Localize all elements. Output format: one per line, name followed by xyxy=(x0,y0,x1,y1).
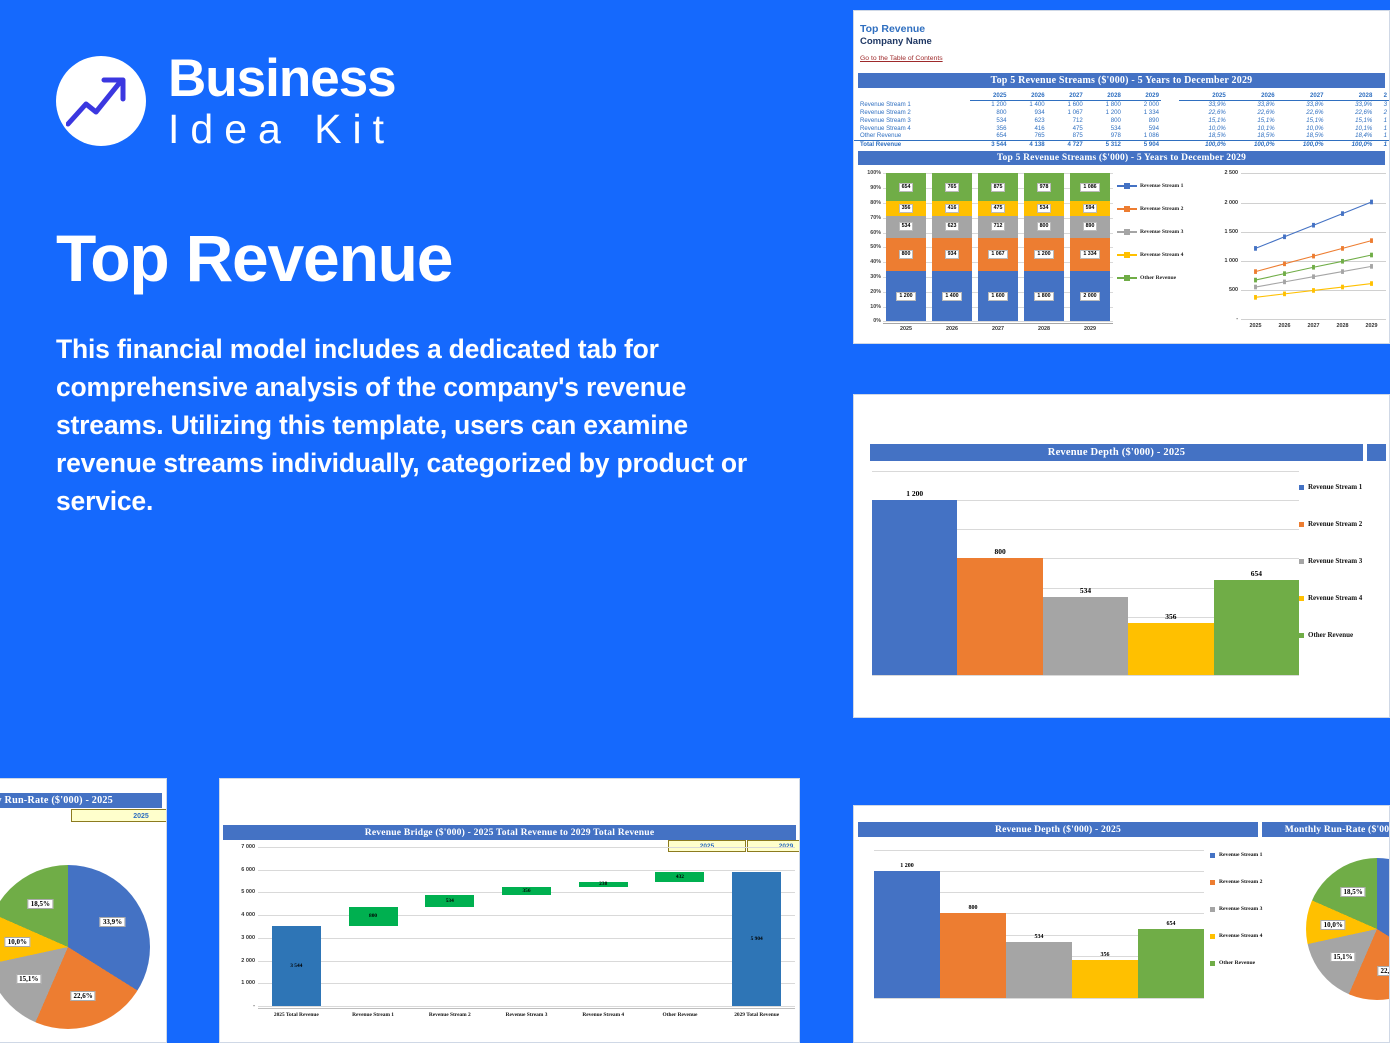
stacked-segment: 594 xyxy=(1070,201,1109,216)
row-value: 5 904 xyxy=(1123,140,1161,148)
segment-value: 875 xyxy=(991,183,1006,192)
row-pct: 15,1% xyxy=(1277,116,1326,124)
bar-value: 654 xyxy=(1214,569,1299,578)
legend-item: Revenue Stream 4 xyxy=(1117,252,1211,258)
waterfall-bar: 5 904 xyxy=(732,872,781,1006)
legend-item: Other Revenue xyxy=(1210,960,1284,966)
stacked-segment: 1 800 xyxy=(1024,271,1063,321)
table-row: Revenue Stream 353462371280089015,1%15,1… xyxy=(854,116,1389,124)
bar xyxy=(940,913,1006,998)
y-tick: 70% xyxy=(870,215,881,221)
segment-value: 1 800 xyxy=(1034,292,1053,301)
stacked-x-axis: 20252026202720282029 xyxy=(883,323,1113,339)
row-pct: 100,0% xyxy=(1326,140,1375,148)
legend-item: Revenue Stream 4 xyxy=(1299,594,1385,602)
bar xyxy=(872,500,957,675)
row-value: 594 xyxy=(1123,124,1161,132)
row-pct: 33,9% xyxy=(1179,100,1228,108)
y-tick: 60% xyxy=(870,230,881,236)
x-tick: 2028 xyxy=(1024,326,1063,339)
stacked-segment: 875 xyxy=(978,173,1017,200)
segment-value: 2 000 xyxy=(1080,292,1099,301)
bar-value: 356 xyxy=(1072,952,1138,958)
legend-marker xyxy=(1210,880,1215,885)
legend-label: Revenue Stream 1 xyxy=(1140,183,1183,189)
run-rate-title-bottom: Monthly Run-Rate ($'000) - 2025 xyxy=(1262,822,1390,837)
y-tick: 500 xyxy=(1229,287,1238,293)
bar xyxy=(874,871,940,998)
waterfall-bar: 3 544 xyxy=(272,926,321,1006)
x-tick: Revenue Stream 3 xyxy=(488,1012,565,1026)
legend-label: Revenue Stream 4 xyxy=(1308,594,1362,602)
legend-label: Revenue Stream 1 xyxy=(1308,483,1362,491)
stacked-column: 6543565348001 200 xyxy=(886,173,925,321)
bar-value: 1 200 xyxy=(872,489,957,498)
promo-description: This financial model includes a dedicate… xyxy=(56,331,766,520)
row-value: 654 xyxy=(970,132,1008,140)
legend-marker xyxy=(1117,185,1137,187)
stacked-segment: 534 xyxy=(886,216,925,238)
bar-column: 356 xyxy=(1072,850,1138,998)
x-tick: Revenue Stream 2 xyxy=(411,1012,488,1026)
row-pct: 10,0% xyxy=(1277,124,1326,132)
year-selector-left[interactable]: 2025 xyxy=(71,809,167,822)
y-tick: 90% xyxy=(870,185,881,191)
pie-slice-label: 18,5% xyxy=(1340,887,1365,897)
bar-column: 1 200 xyxy=(872,471,957,675)
legend-marker xyxy=(1117,254,1137,256)
stacked-segment: 2 000 xyxy=(1070,271,1109,321)
promo-block: Business Idea Kit Top Revenue This finan… xyxy=(56,52,816,521)
legend-label: Revenue Stream 3 xyxy=(1219,906,1262,912)
waterfall-column: 5 904 xyxy=(718,847,795,1006)
revenue-depth-title-bottom: Revenue Depth ($'000) - 2025 xyxy=(858,822,1258,837)
pie-slice-label: 33,9% xyxy=(100,917,125,927)
revenue-depth-title: Revenue Depth ($'000) - 2025 xyxy=(870,444,1363,461)
y-tick: 1 000 xyxy=(1225,258,1239,264)
row-pct: 15,1% xyxy=(1228,116,1277,124)
bar-column: 356 xyxy=(1128,471,1213,675)
brand-name-primary: Business xyxy=(168,52,396,105)
brand-logo: Business Idea Kit xyxy=(56,52,816,150)
x-tick: 2029 xyxy=(1070,326,1109,339)
row-value: 1 600 xyxy=(1047,100,1085,108)
stacked-segment: 800 xyxy=(1024,216,1063,238)
bar-column: 800 xyxy=(957,471,1042,675)
waterfall-value: 5 904 xyxy=(732,936,781,942)
segment-value: 654 xyxy=(899,183,914,192)
monthly-run-rate-panel-left: Monthly Run-Rate ($'000) - 2025 2025 33,… xyxy=(0,778,167,1043)
stacked-segment: 1 600 xyxy=(978,271,1017,321)
waterfall-value: 3 544 xyxy=(272,963,321,969)
table-col-header: 2025 xyxy=(970,92,1008,100)
run-rate-pie-left: 33,9%22,6%15,1%10,0%18,5% xyxy=(0,865,150,1029)
legend-marker xyxy=(1299,559,1304,564)
row-value: 712 xyxy=(1047,116,1085,124)
pie-slice-label: 18,5% xyxy=(28,899,53,909)
row-value: 2 000 xyxy=(1123,100,1161,108)
row-value: 765 xyxy=(1009,132,1047,140)
segment-value: 1 400 xyxy=(942,292,961,301)
segment-value: 623 xyxy=(945,222,960,231)
bar-column: 800 xyxy=(940,850,1006,998)
y-tick: 30% xyxy=(870,274,881,280)
stacked-segment: 1 200 xyxy=(886,271,925,321)
stacked-segment: 1 086 xyxy=(1070,173,1109,200)
row-pct: 33,9% xyxy=(1326,100,1375,108)
segment-value: 475 xyxy=(991,204,1006,213)
row-label: Revenue Stream 2 xyxy=(854,109,970,117)
row-value: 416 xyxy=(1009,124,1047,132)
waterfall-column: 534 xyxy=(411,847,488,1006)
waterfall-bar: 356 xyxy=(502,887,551,895)
growth-arrow-icon xyxy=(56,56,146,146)
legend-item: Revenue Stream 2 xyxy=(1210,879,1284,885)
legend-marker xyxy=(1210,961,1215,966)
row-value: 800 xyxy=(1085,116,1123,124)
legend-item: Revenue Stream 1 xyxy=(1117,183,1211,189)
waterfall-value: 238 xyxy=(579,881,628,887)
legend-item: Revenue Stream 1 xyxy=(1210,852,1284,858)
segment-value: 594 xyxy=(1083,204,1098,213)
waterfall-column: 800 xyxy=(335,847,412,1006)
row-label: Revenue Stream 4 xyxy=(854,124,970,132)
legend-marker xyxy=(1210,853,1215,858)
legend-item: Revenue Stream 4 xyxy=(1210,933,1284,939)
legend-marker xyxy=(1117,277,1137,279)
legend-label: Other Revenue xyxy=(1140,275,1176,281)
legend-marker xyxy=(1117,231,1137,233)
legend-label: Revenue Stream 2 xyxy=(1140,206,1183,212)
stacked-segment: 623 xyxy=(932,216,971,238)
table-of-contents-link[interactable]: Go to the Table of Contents xyxy=(860,55,943,62)
y-tick: 7 000 xyxy=(241,844,255,850)
bar xyxy=(1043,597,1128,675)
x-tick: 2027 xyxy=(978,326,1017,339)
row-value: 1 086 xyxy=(1123,132,1161,140)
segment-value: 1 600 xyxy=(988,292,1007,301)
row-pct: 22,6% xyxy=(1326,109,1375,117)
row-pct: 100,0% xyxy=(1179,140,1228,148)
bar xyxy=(1128,623,1213,675)
stacked-segment: 356 xyxy=(886,201,925,216)
segment-value: 534 xyxy=(899,222,914,231)
line-x-axis: 20252026202720282029 xyxy=(1241,321,1386,337)
table-body: Revenue Stream 11 2001 4001 6001 8002 00… xyxy=(854,100,1389,148)
y-tick: 10% xyxy=(870,304,881,310)
y-tick: 5 000 xyxy=(241,889,255,895)
y-tick: 1 000 xyxy=(241,980,255,986)
line-chart: -5001 0001 5002 0002 500 202520262027202… xyxy=(1211,167,1386,343)
bar-value: 654 xyxy=(1138,921,1204,927)
waterfall-column: 238 xyxy=(565,847,642,1006)
stacked-column: 7654166239341 400 xyxy=(932,173,971,321)
segment-value: 934 xyxy=(945,250,960,259)
segment-value: 1 067 xyxy=(988,250,1007,259)
segment-value: 712 xyxy=(991,222,1006,231)
waterfall-column: 356 xyxy=(488,847,565,1006)
legend-item: Revenue Stream 3 xyxy=(1299,557,1385,565)
legend-label: Revenue Stream 1 xyxy=(1219,852,1262,858)
stacked-bar-chart: 0%10%20%30%40%50%60%70%80%90%100% 654356… xyxy=(857,167,1115,343)
row-value: 1 800 xyxy=(1085,100,1123,108)
bar-value: 356 xyxy=(1128,612,1213,621)
table-col-header-pct: 2026 xyxy=(1228,92,1277,100)
legend-item: Other Revenue xyxy=(1117,275,1211,281)
stacked-column: 9785348001 2001 800 xyxy=(1024,173,1063,321)
segment-value: 800 xyxy=(899,250,914,259)
row-pct: 100,0% xyxy=(1228,140,1277,148)
table-col-header-pct: 2025 xyxy=(1179,92,1228,100)
legend-item: Other Revenue xyxy=(1299,631,1385,639)
table-col-header-pct: 2 xyxy=(1374,92,1389,100)
run-rate-title-left: Monthly Run-Rate ($'000) - 2025 xyxy=(0,793,162,808)
y-tick: 3 000 xyxy=(241,935,255,941)
row-value: 890 xyxy=(1123,116,1161,124)
row-pct: 10,1% xyxy=(1326,124,1375,132)
row-pct: 100,0% xyxy=(1277,140,1326,148)
stacked-segment: 890 xyxy=(1070,216,1109,238)
x-tick: 2025 xyxy=(886,326,925,339)
table-row: Revenue Stream 28009341 0671 2001 33422,… xyxy=(854,109,1389,117)
pie-slice-label: 22,6% xyxy=(70,991,95,1001)
table-col-header: 2027 xyxy=(1047,92,1085,100)
legend-marker xyxy=(1299,485,1304,490)
legend-label: Revenue Stream 2 xyxy=(1219,879,1262,885)
row-value: 934 xyxy=(1009,109,1047,117)
row-pct: 18,5% xyxy=(1179,132,1228,140)
x-tick: Other Revenue xyxy=(642,1012,719,1026)
row-label: Revenue Stream 3 xyxy=(854,116,970,124)
segment-value: 1 334 xyxy=(1080,250,1099,259)
bar xyxy=(1214,580,1299,675)
run-rate-pie-right: 33,9%22,6%15,1%10,0%18,5% xyxy=(1306,858,1390,1000)
waterfall-bar: 238 xyxy=(579,882,628,887)
row-pct: 18,4% xyxy=(1326,132,1375,140)
table-col-header: 2026 xyxy=(1009,92,1047,100)
row-pct: 18,5% xyxy=(1228,132,1277,140)
row-value: 623 xyxy=(1009,116,1047,124)
waterfall-column: 3 544 xyxy=(258,847,335,1006)
stacked-segment: 712 xyxy=(978,216,1017,238)
row-value: 978 xyxy=(1085,132,1123,140)
row-pct: 15,1% xyxy=(1179,116,1228,124)
legend-item: Revenue Stream 2 xyxy=(1117,206,1211,212)
waterfall-value: 534 xyxy=(425,898,474,904)
pie-slice-label: 10,0% xyxy=(1321,920,1346,930)
x-tick: 2029 xyxy=(1366,323,1378,337)
y-tick: 50% xyxy=(870,244,881,250)
pie-slice-label: 15,1% xyxy=(1330,952,1355,962)
x-tick: 2026 xyxy=(1279,323,1291,337)
y-tick: 2 000 xyxy=(241,958,255,964)
waterfall-value: 800 xyxy=(349,913,398,919)
row-pct: 22,6% xyxy=(1228,109,1277,117)
page-title: Top Revenue xyxy=(56,224,816,293)
depth-legend: Revenue Stream 1 Revenue Stream 2 Revenu… xyxy=(1299,483,1385,668)
legend-label: Other Revenue xyxy=(1219,960,1255,966)
revenue-bridge-panel: Revenue Bridge ($'000) - 2025 Total Reve… xyxy=(219,778,800,1043)
revenue-depth-bar-chart: 1 200 800 534 356 654 xyxy=(872,471,1299,675)
table-row: Other Revenue6547658759781 08618,5%18,5%… xyxy=(854,132,1389,140)
row-value: 356 xyxy=(970,124,1008,132)
row-value: 3 544 xyxy=(970,140,1008,148)
row-pct: 18,5% xyxy=(1277,132,1326,140)
pie-slice-label: 15,1% xyxy=(16,974,41,984)
table-col-header: 2029 xyxy=(1123,92,1161,100)
row-value: 4 138 xyxy=(1009,140,1047,148)
banner-divider xyxy=(1258,822,1262,837)
stacked-column: 1 0865948901 3342 000 xyxy=(1070,173,1109,321)
depth2-legend: Revenue Stream 1 Revenue Stream 2 Revenu… xyxy=(1210,852,1284,987)
legend-marker xyxy=(1299,522,1304,527)
chart-legend: Revenue Stream 1 Revenue Stream 2 Revenu… xyxy=(1115,167,1211,343)
sheet-header: Top Revenue Company Name Go to the Table… xyxy=(854,11,1389,69)
bar xyxy=(957,558,1042,675)
y-tick: - xyxy=(1236,316,1238,322)
waterfall-value: 356 xyxy=(502,888,551,894)
row-value: 475 xyxy=(1047,124,1085,132)
row-label: Revenue Stream 1 xyxy=(854,100,970,108)
bridge-bars: 3 544 800 534 356 238 432 xyxy=(258,847,795,1006)
bar-value: 800 xyxy=(940,905,1006,911)
segment-value: 765 xyxy=(945,183,960,192)
waterfall-bar: 800 xyxy=(349,907,398,925)
line-y-axis: -5001 0001 5002 0002 500 xyxy=(1211,173,1241,319)
table-header-row: 2025202620272028202920252026202720282 xyxy=(854,92,1389,100)
brand-name-secondary: Idea Kit xyxy=(168,109,396,150)
bar-value: 1 200 xyxy=(874,863,940,869)
stacked-segment: 1 200 xyxy=(1024,238,1063,271)
y-tick: 6 000 xyxy=(241,867,255,873)
legend-item: Revenue Stream 2 xyxy=(1299,520,1385,528)
bar-value: 534 xyxy=(1043,586,1128,595)
bar-column: 534 xyxy=(1043,471,1128,675)
y-tick: 0% xyxy=(873,318,881,324)
legend-item: Revenue Stream 1 xyxy=(1299,483,1385,491)
bar xyxy=(1138,929,1204,998)
row-value: 800 xyxy=(970,109,1008,117)
stacked-y-axis: 0%10%20%30%40%50%60%70%80%90%100% xyxy=(857,173,883,321)
y-tick: 1 500 xyxy=(1225,229,1239,235)
legend-marker xyxy=(1299,596,1304,601)
y-tick: 4 000 xyxy=(241,912,255,918)
bridge-plot: 3 544 800 534 356 238 432 xyxy=(258,847,795,1006)
row-pct: 33,8% xyxy=(1277,100,1326,108)
waterfall-bar: 534 xyxy=(425,895,474,907)
stacked-segment: 934 xyxy=(932,238,971,271)
revenue-depth-panel-bottom: Revenue Depth ($'000) - 2025 Monthly Run… xyxy=(853,805,1390,1043)
bar-value: 534 xyxy=(1006,934,1072,940)
x-tick: 2025 Total Revenue xyxy=(258,1012,335,1026)
line-series xyxy=(1241,173,1386,318)
segment-value: 800 xyxy=(1037,222,1052,231)
revenue-depth-title-spacer xyxy=(1367,444,1386,461)
legend-marker xyxy=(1117,208,1137,210)
bar xyxy=(1006,942,1072,998)
legend-item: Revenue Stream 3 xyxy=(1210,906,1284,912)
legend-label: Revenue Stream 3 xyxy=(1308,557,1362,565)
segment-value: 978 xyxy=(1037,183,1052,192)
sheet-company-name: Company Name xyxy=(860,36,1389,47)
stacked-segment: 800 xyxy=(886,238,925,271)
row-pct: 10,0% xyxy=(1179,124,1228,132)
row-pct: 15,1% xyxy=(1326,116,1375,124)
row-value: 1 067 xyxy=(1047,109,1085,117)
row-value: 5 312 xyxy=(1085,140,1123,148)
table-col-header: 2028 xyxy=(1085,92,1123,100)
bar xyxy=(1072,960,1138,998)
revenue-table: 2025202620272028202920252026202720282 Re… xyxy=(854,92,1389,148)
stacked-segment: 1 067 xyxy=(978,238,1017,271)
legend-label: Revenue Stream 4 xyxy=(1140,252,1183,258)
legend-item: Revenue Stream 3 xyxy=(1117,229,1211,235)
legend-marker xyxy=(1210,907,1215,912)
row-value: 875 xyxy=(1047,132,1085,140)
y-tick: 2 500 xyxy=(1225,170,1239,176)
legend-label: Revenue Stream 3 xyxy=(1140,229,1183,235)
legend-label: Other Revenue xyxy=(1308,631,1353,639)
segment-value: 356 xyxy=(899,204,914,213)
x-tick: 2026 xyxy=(932,326,971,339)
table-col-header-pct: 2028 xyxy=(1326,92,1375,100)
pie-slice-label: 22,6% xyxy=(1377,966,1390,976)
waterfall-bar: 432 xyxy=(655,872,704,882)
stacked-segment: 978 xyxy=(1024,173,1063,200)
row-value: 1 200 xyxy=(1085,109,1123,117)
y-tick: 80% xyxy=(870,200,881,206)
x-tick: Revenue Stream 1 xyxy=(335,1012,412,1026)
revenue-bridge-title: Revenue Bridge ($'000) - 2025 Total Reve… xyxy=(223,825,796,840)
depth-bars: 1 200 800 534 356 654 xyxy=(872,471,1299,675)
revenue-depth-panel: Revenue Depth ($'000) - 2025 1 200 800 5… xyxy=(853,394,1390,718)
stacked-segment: 475 xyxy=(978,201,1017,216)
row-label: Total Revenue xyxy=(854,140,970,148)
stacked-segment: 654 xyxy=(886,173,925,200)
y-tick: 100% xyxy=(867,170,881,176)
bar-column: 654 xyxy=(1138,850,1204,998)
segment-value: 1 200 xyxy=(896,292,915,301)
bar-value: 800 xyxy=(957,547,1042,556)
table-row: Revenue Stream 11 2001 4001 6001 8002 00… xyxy=(854,100,1389,108)
pie-slice-label: 10,0% xyxy=(5,937,30,947)
bar-column: 654 xyxy=(1214,471,1299,675)
segment-value: 534 xyxy=(1037,204,1052,213)
row-value: 4 727 xyxy=(1047,140,1085,148)
bridge-x-axis: 2025 Total RevenueRevenue Stream 1Revenu… xyxy=(258,1008,795,1026)
stacked-column: 8754757121 0671 600 xyxy=(978,173,1017,321)
row-pct: 22,6% xyxy=(1179,109,1228,117)
y-tick: 40% xyxy=(870,259,881,265)
stacked-segment: 534 xyxy=(1024,201,1063,216)
revenue-depth-bar-chart-bottom: 1 200 800 534 356 654 xyxy=(874,850,1204,998)
stacked-segment: 1 400 xyxy=(932,271,971,321)
row-value: 1 200 xyxy=(970,100,1008,108)
legend-marker xyxy=(1299,633,1304,638)
legend-label: Revenue Stream 4 xyxy=(1219,933,1262,939)
bar-column: 534 xyxy=(1006,850,1072,998)
waterfall-value: 432 xyxy=(655,874,704,880)
spreadsheet-panel-top: Top Revenue Company Name Go to the Table… xyxy=(853,10,1390,344)
x-tick: 2028 xyxy=(1337,323,1349,337)
row-pct: 10,1% xyxy=(1228,124,1277,132)
chart-banner: Top 5 Revenue Streams ($'000) - 5 Years … xyxy=(858,151,1385,165)
bar-column: 1 200 xyxy=(874,850,940,998)
x-tick: 2027 xyxy=(1308,323,1320,337)
table-col-header-pct: 2027 xyxy=(1277,92,1326,100)
stacked-segment: 765 xyxy=(932,173,971,200)
stacked-segment: 416 xyxy=(932,201,971,216)
